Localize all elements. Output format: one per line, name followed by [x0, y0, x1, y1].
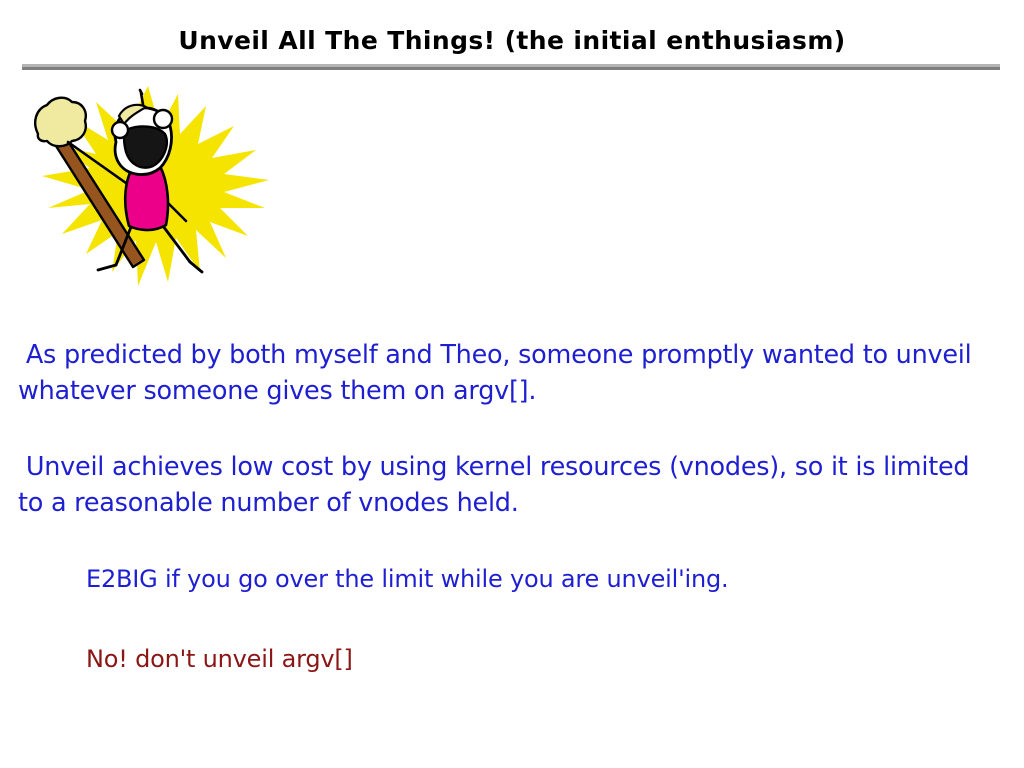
title-divider: [22, 64, 1000, 70]
paragraph-prediction: As predicted by both myself and Theo, so…: [18, 337, 978, 409]
bullet-warning-no-unveil-argv: No! don't unveil argv[]: [86, 645, 353, 673]
paragraph-unveil-cost: Unveil achieves low cost by using kernel…: [18, 449, 978, 521]
bullet-e2big: E2BIG if you go over the limit while you…: [86, 565, 728, 593]
page-title: Unveil All The Things! (the initial enth…: [0, 26, 1024, 55]
x-all-the-things-meme-image: [20, 82, 275, 294]
head-shape: [112, 105, 172, 175]
